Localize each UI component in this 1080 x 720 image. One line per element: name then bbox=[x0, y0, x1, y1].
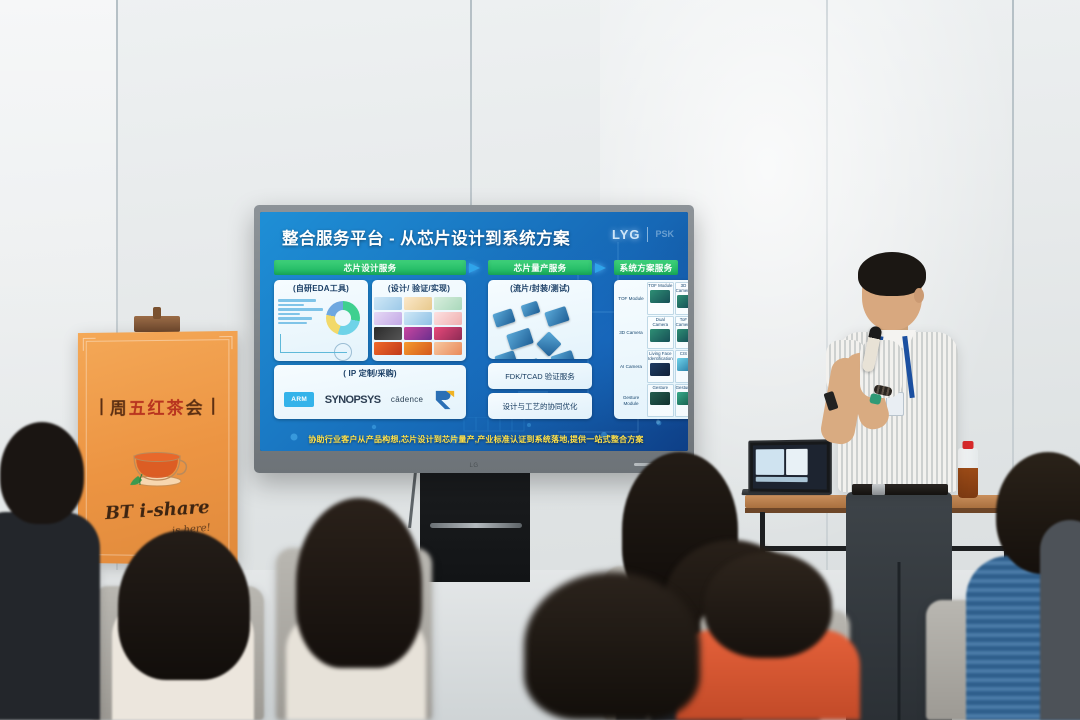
poster-clip bbox=[134, 316, 180, 332]
module-cell: CIS bbox=[675, 350, 688, 383]
card-ip-title: ( IP 定制/采购) bbox=[274, 365, 466, 380]
presenter-belt bbox=[852, 484, 948, 495]
column1-top-row: (自研EDA工具) (设计/ 验证/实现) bbox=[274, 280, 466, 361]
attendee-head bbox=[118, 530, 250, 680]
module-row-label: AI Camera bbox=[616, 350, 646, 383]
module-image bbox=[650, 290, 670, 303]
attendee-head bbox=[296, 498, 422, 668]
lg-brand-logo: LG bbox=[469, 463, 478, 469]
logo-divider bbox=[647, 227, 648, 242]
module-image bbox=[650, 329, 670, 342]
attendee-head bbox=[0, 422, 84, 524]
arrow-right-icon bbox=[595, 261, 611, 274]
column-chip-design: (自研EDA工具) (设计/ 验证/实现) bbox=[274, 280, 466, 419]
microphone-base bbox=[869, 393, 882, 405]
laptop[interactable] bbox=[748, 439, 832, 494]
tea-bottle bbox=[958, 448, 978, 498]
slide-title: 整合服务平台 - 从芯片设计到系统方案 bbox=[282, 225, 570, 249]
card-design-title: (设计/ 验证/实现) bbox=[372, 280, 466, 295]
module-image bbox=[650, 363, 670, 376]
module-image bbox=[677, 295, 688, 308]
poster-title-part3: 会 bbox=[186, 399, 205, 418]
poster-title-part1: 周 bbox=[110, 399, 129, 418]
module-caption: TOF Module bbox=[648, 284, 672, 289]
module-cell: ToF Camera bbox=[675, 316, 688, 349]
card-eda-title: (自研EDA工具) bbox=[274, 280, 368, 295]
display-stand-pole bbox=[408, 472, 417, 528]
module-image bbox=[650, 392, 670, 405]
bottle-cap bbox=[963, 441, 974, 449]
card-tapeout-title: (流片/封装/测试) bbox=[488, 280, 592, 295]
module-image bbox=[677, 329, 688, 342]
card-design-verify: (设计/ 验证/实现) bbox=[372, 280, 466, 361]
card-fdk-tcad: FDK/TCAD 验证服务 bbox=[488, 363, 592, 389]
module-row-label: 3D Camera bbox=[616, 316, 646, 349]
card-ip-licensing: ( IP 定制/采购) ARM SYNOPSYS cādence bbox=[274, 365, 466, 419]
poster-title-part2: 五红茶 bbox=[129, 399, 186, 418]
band-system-solution: 系统方案服务 bbox=[614, 260, 678, 275]
bottle-liquid bbox=[958, 468, 978, 498]
module-cell: Gesture bbox=[647, 384, 674, 417]
presenter-belt-buckle bbox=[872, 484, 885, 495]
synopsys-logo: SYNOPSYS bbox=[325, 394, 381, 406]
slide-footer-text: 协助行业客户从产品构想,芯片设计到芯片量产,产业标准认证到系统落地,提供一站式整… bbox=[278, 434, 674, 445]
display-screen: 整合服务平台 - 从芯片设计到系统方案 LYG PSK 芯片设计服务 芯片量产服… bbox=[260, 212, 688, 451]
module-caption: 3D Camera bbox=[676, 284, 688, 294]
teacup-icon bbox=[126, 438, 188, 488]
presentation-slide: 整合服务平台 - 从芯片设计到系统方案 LYG PSK 芯片设计服务 芯片量产服… bbox=[260, 212, 688, 451]
card-tapeout-package-test: (流片/封装/测试) bbox=[488, 280, 592, 359]
laptop-screen-panel bbox=[756, 477, 808, 482]
module-grid: TOF Module TOF Module 3D Camera 3D Camer… bbox=[614, 280, 688, 419]
module-image bbox=[677, 392, 688, 405]
laptop-screen bbox=[753, 444, 827, 489]
eda-illustration bbox=[274, 295, 368, 361]
column-system-solution: TOF Module TOF Module 3D Camera 3D Camer… bbox=[614, 280, 688, 419]
attendee-torso bbox=[0, 512, 100, 720]
card-design-process-cooptimization: 设计与工艺的协同优化 bbox=[488, 393, 592, 419]
module-caption: Living Face Identification bbox=[648, 352, 673, 362]
module-caption: Dual Camera bbox=[648, 318, 673, 328]
lyg-logo-text: LYG bbox=[612, 227, 641, 242]
module-image bbox=[677, 358, 688, 371]
laptop-screen-panel bbox=[786, 449, 808, 475]
module-caption: Gesture bbox=[676, 386, 688, 391]
module-cell: 3D Camera bbox=[675, 282, 688, 315]
band-chip-design: 芯片设计服务 bbox=[274, 260, 466, 275]
arrow-right-icon bbox=[469, 261, 485, 274]
presenter-ear bbox=[914, 288, 924, 303]
card-eda-tools: (自研EDA工具) bbox=[274, 280, 368, 361]
presentation-room-photo: 整合服务平台 - 从芯片设计到系统方案 LYG PSK 芯片设计服务 芯片量产服… bbox=[0, 0, 1080, 720]
card-module-matrix: TOF Module TOF Module 3D Camera 3D Camer… bbox=[614, 280, 688, 419]
secondary-logo-text: PSK bbox=[655, 230, 674, 239]
ip-vendor-logos: ARM SYNOPSYS cādence bbox=[274, 380, 466, 419]
module-row-label: Gesture Module bbox=[616, 384, 646, 417]
laptop-screen-panel bbox=[756, 449, 784, 475]
module-caption: ToF Camera bbox=[676, 318, 688, 328]
slide-logo: LYG PSK bbox=[612, 227, 674, 242]
module-caption: CIS bbox=[680, 352, 687, 357]
process-bands: 芯片设计服务 芯片量产服务 系统方案服务 bbox=[274, 260, 678, 275]
module-cell: Dual Camera bbox=[647, 316, 674, 349]
module-cell: Living Face Identification bbox=[647, 350, 674, 383]
poster-title: 周五红茶会 bbox=[78, 393, 238, 419]
module-caption: Gesture bbox=[653, 386, 669, 391]
attendee-head bbox=[524, 572, 700, 720]
chip-package-illustration bbox=[488, 295, 592, 359]
module-row-label: TOF Module bbox=[616, 282, 646, 315]
attendee-torso bbox=[1040, 520, 1080, 720]
band-mass-production: 芯片量产服务 bbox=[488, 260, 592, 275]
module-cell: Gesture bbox=[675, 384, 688, 417]
arm-logo: ARM bbox=[284, 392, 314, 407]
event-poster: 周五红茶会 BT i-share is here! bbox=[78, 331, 238, 565]
riscv-logo bbox=[434, 389, 456, 411]
column-mass-production: (流片/封装/测试) bbox=[488, 280, 592, 419]
slide-columns: (自研EDA工具) (设计/ 验证/实现) bbox=[274, 280, 678, 419]
display-stand-bar bbox=[430, 523, 522, 528]
attendee-head bbox=[704, 552, 832, 658]
module-cell: TOF Module bbox=[647, 282, 674, 315]
cadence-logo: cādence bbox=[391, 395, 423, 404]
wall-mounted-display[interactable]: 整合服务平台 - 从芯片设计到系统方案 LYG PSK 芯片设计服务 芯片量产服… bbox=[254, 205, 694, 473]
layout-thumbnails bbox=[372, 295, 466, 357]
